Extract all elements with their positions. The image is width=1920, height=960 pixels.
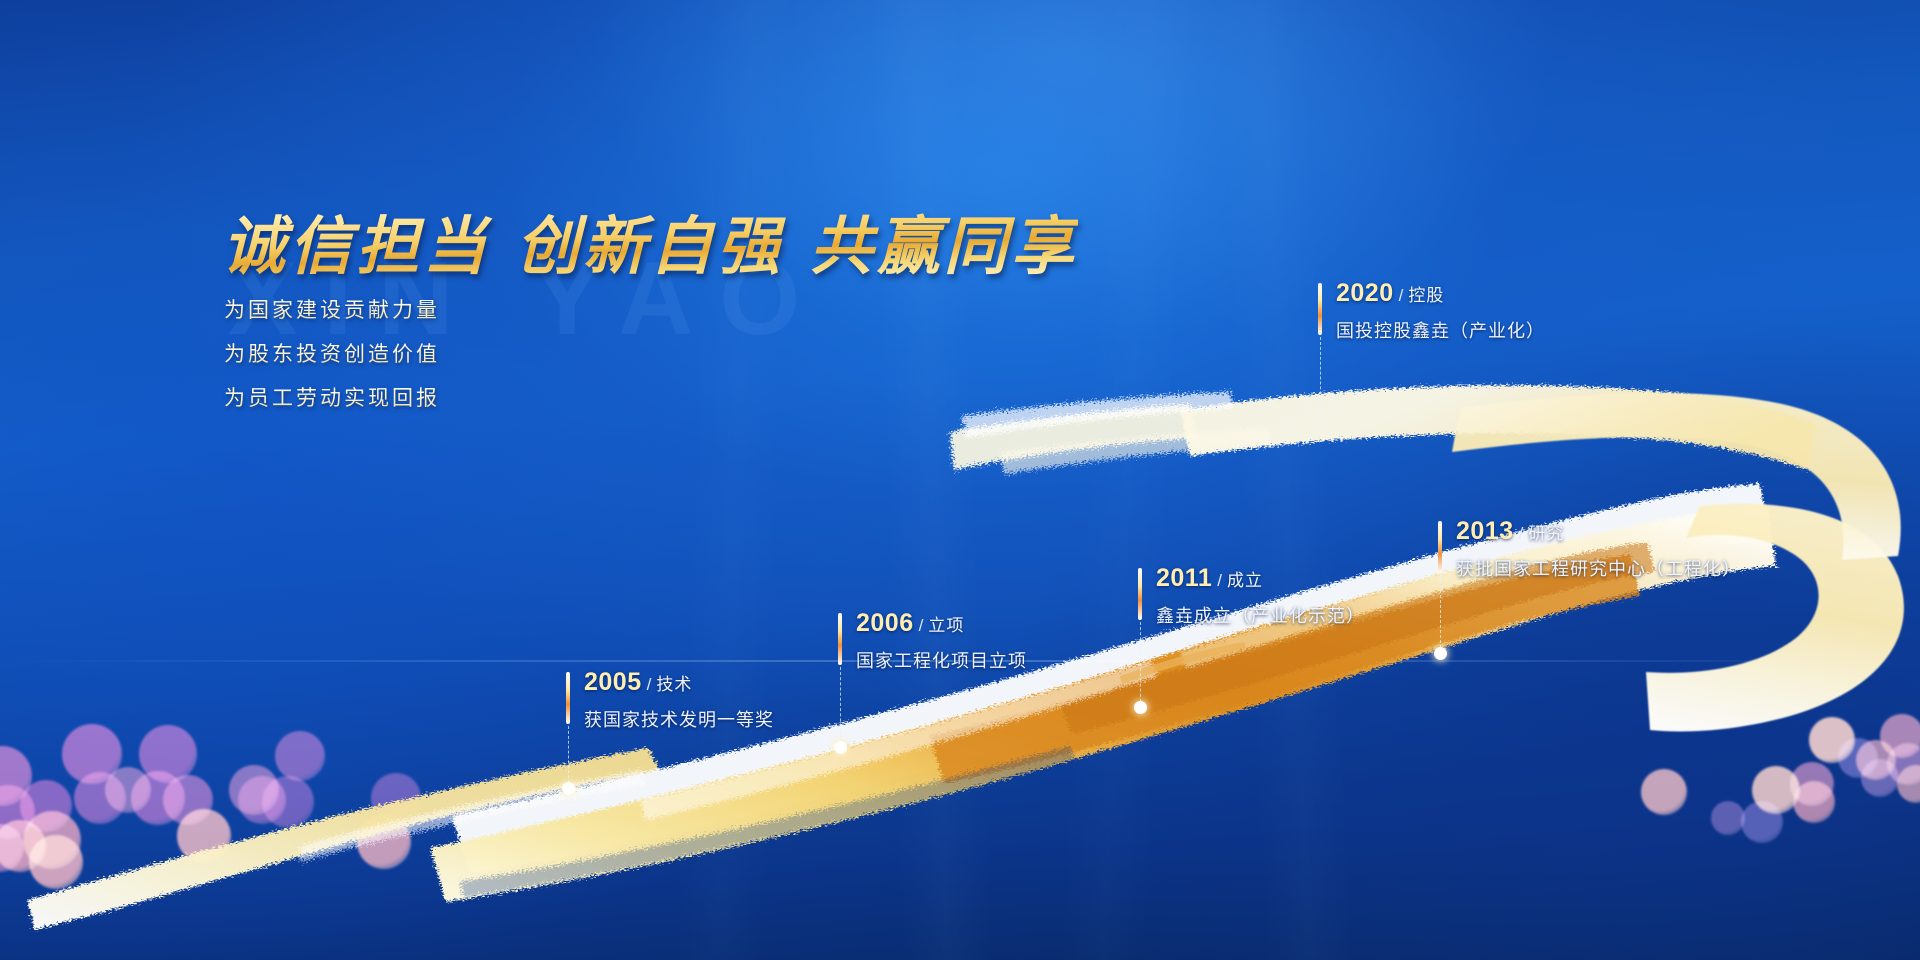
bokeh-circle bbox=[1809, 717, 1855, 763]
milestone-text: 2006/立项 国家工程化项目立项 bbox=[856, 609, 1027, 673]
bokeh-circle bbox=[131, 771, 185, 825]
poster-canvas: XIN YAO 诚信担当 创新自强 共赢同享 为国家建设贡献力量 为股东投资创造… bbox=[0, 0, 1920, 960]
milestone-heading: 2005/技术 bbox=[584, 668, 774, 697]
timeline-node-2013[interactable] bbox=[1434, 647, 1447, 660]
bokeh-circle bbox=[1641, 769, 1687, 815]
milestone-tag: 技术 bbox=[656, 675, 692, 694]
milestone-tag: 成立 bbox=[1227, 571, 1263, 590]
bokeh-circle bbox=[177, 809, 231, 863]
leader-line-2011 bbox=[1140, 622, 1141, 707]
milestone-accent-bar bbox=[566, 672, 570, 724]
milestone-year: 2005 bbox=[584, 668, 642, 696]
bokeh-circle bbox=[23, 811, 81, 869]
bokeh-circle bbox=[0, 820, 46, 872]
bokeh-circle bbox=[1880, 714, 1920, 758]
page-title: 诚信担当 创新自强 共赢同享 bbox=[222, 196, 1078, 287]
milestone-accent-bar bbox=[838, 613, 842, 665]
bokeh-circle bbox=[1793, 781, 1835, 823]
milestone-description: 获批国家工程研究中心（工程化） bbox=[1456, 555, 1741, 581]
milestone-year: 2013 bbox=[1456, 517, 1514, 545]
tagline-1: 为国家建设贡献力量 bbox=[224, 294, 440, 324]
bokeh-circle bbox=[1741, 801, 1783, 843]
milestone-accent-bar bbox=[1318, 283, 1322, 335]
milestone-text: 2020/控股 国投控股鑫垚（产业化） bbox=[1336, 279, 1545, 343]
leader-line-2020 bbox=[1320, 337, 1321, 419]
milestone-tag: 研究 bbox=[1528, 524, 1564, 543]
bokeh-circle bbox=[0, 746, 32, 806]
timeline-node-2005[interactable] bbox=[562, 782, 575, 795]
milestone-accent-bar bbox=[1438, 521, 1442, 573]
milestone-heading: 2020/控股 bbox=[1336, 279, 1545, 308]
bokeh-circle bbox=[229, 765, 279, 815]
bokeh-circle bbox=[1790, 762, 1834, 806]
milestone-heading: 2013/研究 bbox=[1456, 517, 1741, 546]
bokeh-circle bbox=[371, 773, 421, 823]
bokeh-circle bbox=[1897, 765, 1920, 803]
bokeh-circle bbox=[1752, 766, 1800, 814]
brush-stroke-swoosh bbox=[0, 0, 1920, 960]
leader-line-2005 bbox=[568, 726, 569, 788]
bokeh-circle bbox=[1838, 738, 1878, 778]
bokeh-circle bbox=[1856, 740, 1896, 780]
milestone-description: 鑫垚成立（产业化示范） bbox=[1156, 602, 1365, 628]
bokeh-circle bbox=[163, 775, 213, 825]
milestone-year: 2011 bbox=[1156, 564, 1212, 592]
bokeh-circle bbox=[1861, 759, 1899, 797]
milestone-tag: 控股 bbox=[1408, 286, 1444, 305]
timeline-node-2006[interactable] bbox=[834, 741, 847, 754]
milestone-description: 获国家技术发明一等奖 bbox=[584, 706, 774, 732]
milestone-separator: / bbox=[1394, 286, 1409, 305]
leader-line-2006 bbox=[840, 667, 841, 747]
bokeh-circle bbox=[0, 785, 35, 839]
milestone-year: 2006 bbox=[856, 609, 914, 637]
bokeh-circle bbox=[275, 731, 325, 781]
bokeh-circle bbox=[262, 776, 314, 828]
milestone-text: 2011/成立 鑫垚成立（产业化示范） bbox=[1156, 564, 1365, 628]
milestone-separator: / bbox=[914, 616, 929, 635]
bokeh-circle bbox=[139, 725, 197, 783]
timeline-node-2011[interactable] bbox=[1134, 701, 1147, 714]
milestone-description: 国家工程化项目立项 bbox=[856, 647, 1027, 673]
bokeh-circle bbox=[238, 776, 286, 824]
milestone-separator: / bbox=[1212, 571, 1227, 590]
milestone-text: 2013/研究 获批国家工程研究中心（工程化） bbox=[1456, 517, 1741, 581]
bokeh-circle bbox=[29, 835, 83, 889]
bokeh-circle bbox=[1887, 743, 1920, 785]
bokeh-circle bbox=[105, 767, 151, 813]
milestone-text: 2005/技术 获国家技术发明一等奖 bbox=[584, 668, 774, 732]
milestone-tag: 立项 bbox=[928, 616, 964, 635]
leader-line-2013 bbox=[1440, 575, 1441, 653]
milestone-description: 国投控股鑫垚（产业化） bbox=[1336, 317, 1545, 343]
tagline-3: 为员工劳动实现回报 bbox=[224, 382, 440, 412]
headline-block: XIN YAO 诚信担当 创新自强 共赢同享 bbox=[222, 196, 1078, 287]
bokeh-circle bbox=[1711, 801, 1745, 835]
bokeh-circle bbox=[62, 724, 122, 784]
light-rays-decoration bbox=[0, 0, 1920, 960]
milestone-separator: / bbox=[642, 675, 657, 694]
tagline-2: 为股东投资创造价值 bbox=[224, 338, 440, 368]
bokeh-circle bbox=[357, 815, 411, 869]
bokeh-circle bbox=[74, 772, 126, 824]
milestone-separator: / bbox=[1514, 524, 1529, 543]
bokeh-circle bbox=[20, 780, 72, 832]
bokeh-circle bbox=[0, 824, 24, 872]
milestone-year: 2020 bbox=[1336, 279, 1394, 307]
milestone-heading: 2006/立项 bbox=[856, 609, 1027, 638]
milestone-heading: 2011/成立 bbox=[1156, 564, 1365, 593]
milestone-accent-bar bbox=[1138, 568, 1142, 620]
